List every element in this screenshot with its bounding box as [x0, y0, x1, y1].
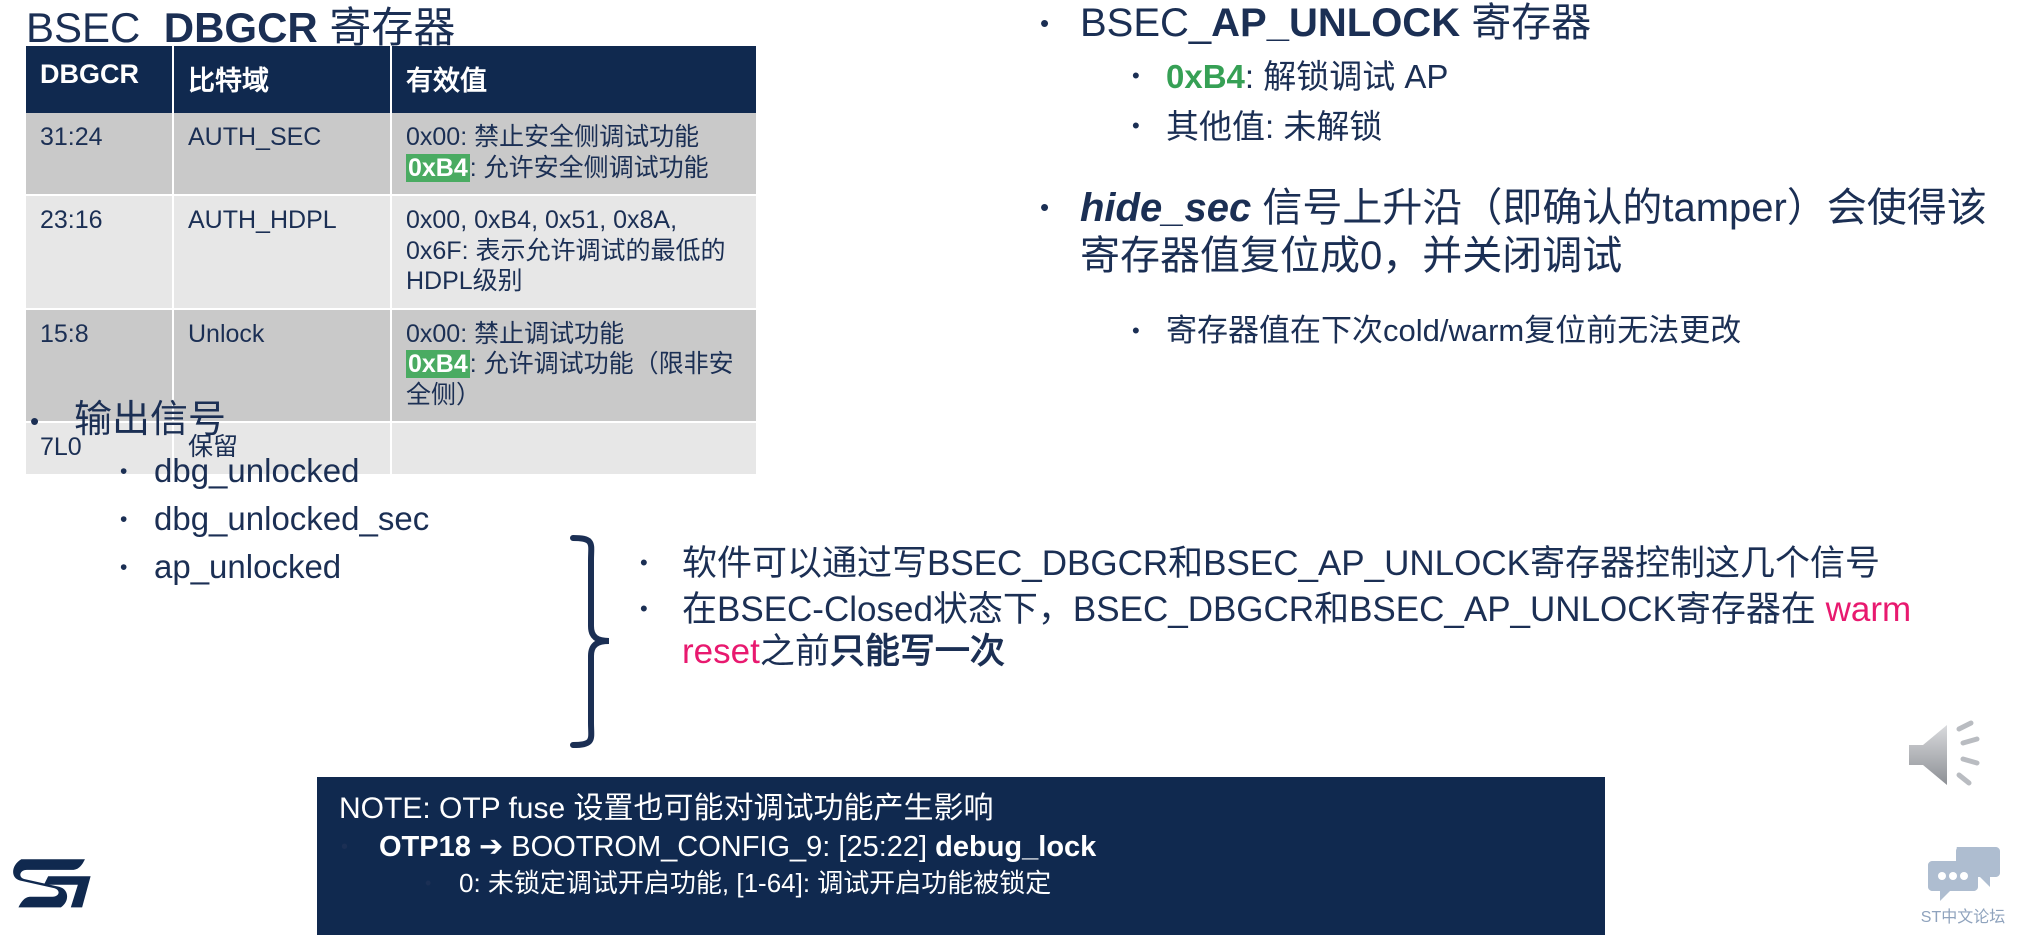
ap-unlock-section: • BSEC_AP_UNLOCK 寄存器 • 0xB4: 解锁调试 AP • 其… [1040, 0, 2000, 156]
cell-field: AUTH_SEC [173, 113, 391, 195]
ap-unlock-suffix: 寄存器 [1460, 1, 1591, 45]
bullet-dot-icon: • [425, 868, 459, 900]
bullet-dot-icon: • [1040, 184, 1080, 220]
page-title-prefix: BSEC_ [26, 4, 164, 51]
note-box: NOTE: OTP fuse 设置也可能对调试功能产生影响 • OTP18 ➔ … [317, 777, 1605, 935]
note-box-line-2: • 0: 未锁定调试开启功能, [1-64]: 调试开启功能被锁定 [425, 868, 1583, 900]
hide-sec-signal-name: hide_sec [1080, 186, 1251, 230]
value-line-1: 0x00: 禁止调试功能 [406, 319, 742, 350]
signal-name: ap_unlocked [154, 548, 550, 587]
ap-unlock-heading: • BSEC_AP_UNLOCK 寄存器 [1040, 0, 2000, 47]
list-item: • ap_unlocked [120, 548, 550, 587]
st-logo [8, 855, 94, 913]
note-box-line-2-text: 0: 未锁定调试开启功能, [1-64]: 调试开启功能被锁定 [459, 868, 1583, 900]
page-title-suffix: 寄存器 [318, 4, 456, 51]
note-box-line-1: • OTP18 ➔ BOOTROM_CONFIG_9: [25:22] debu… [341, 830, 1583, 865]
page-title-bold: DBGCR [164, 4, 318, 51]
table-header-bitfield: 比特域 [173, 46, 391, 113]
bullet-dot-icon: • [1132, 107, 1166, 137]
value-line-1: 0x00: 禁止安全侧调试功能 [406, 122, 742, 153]
other-values-text: 其他值: 未解锁 [1166, 107, 2000, 147]
table-header-row: DBGCR 比特域 有效值 [26, 46, 756, 113]
arrow-icon: ➔ [479, 831, 503, 863]
software-note-2-part1: 在BSEC-Closed状态下，BSEC_DBGCR和BSEC_AP_UNLOC… [682, 590, 1826, 629]
value-line-1: 0x00, 0xB4, 0x51, 0x8A, 0x6F: 表示允许调试的最低的… [406, 205, 742, 297]
output-signals-heading: • 输出信号 [30, 398, 550, 443]
ap-unlock-other-values: • 其他值: 未解锁 [1132, 107, 2000, 147]
bootrom-config-text: BOOTROM_CONFIG_9: [25:22] [503, 831, 935, 863]
bullet-dot-icon: • [1040, 0, 1080, 36]
ap-unlock-value-b4: • 0xB4: 解锁调试 AP [1132, 57, 2000, 97]
write-once-emphasis: 只能写一次 [830, 632, 1005, 671]
cell-values: 0x00: 禁止安全侧调试功能 0xB4: 允许安全侧调试功能 [391, 113, 756, 195]
list-item: • dbg_unlocked_sec [120, 500, 550, 539]
list-item: • dbg_unlocked [120, 452, 550, 491]
value-line-2-text: : 允许安全侧调试功能 [470, 154, 709, 182]
register-reset-note: • 寄存器值在下次cold/warm复位前无法更改 [1040, 312, 2010, 359]
software-note-2-part2: 之前 [760, 632, 830, 671]
table-header-values: 有效值 [391, 46, 756, 113]
register-reset-note-text: 寄存器值在下次cold/warm复位前无法更改 [1166, 312, 2010, 349]
value-0xb4: 0xB4 [1166, 58, 1245, 95]
cell-bits: 31:24 [26, 113, 173, 195]
forum-label: ST中文论坛 [1908, 903, 2018, 927]
ap-unlock-bold: AP_UNLOCK [1211, 1, 1460, 45]
software-note-2: • 在BSEC-Closed状态下，BSEC_DBGCR和BSEC_AP_UNL… [640, 589, 1970, 673]
cell-values: 0x00, 0xB4, 0x51, 0x8A, 0x6F: 表示允许调试的最低的… [391, 195, 756, 309]
table-row: 23:16 AUTH_HDPL 0x00, 0xB4, 0x51, 0x8A, … [26, 195, 756, 309]
output-signals-heading-text: 输出信号 [74, 398, 550, 443]
cell-bits: 23:16 [26, 195, 173, 309]
output-signals-section: • 输出信号 • dbg_unlocked • dbg_unlocked_sec… [30, 398, 550, 596]
chat-bubbles-icon[interactable] [1928, 845, 2000, 901]
value-0xb4-desc: : 解锁调试 AP [1245, 58, 1449, 95]
bullet-dot-icon: • [120, 548, 154, 587]
bullet-dot-icon: • [640, 589, 682, 673]
debug-lock-label: debug_lock [935, 831, 1096, 863]
bullet-dot-icon: • [640, 543, 682, 585]
otp18-label: OTP18 [379, 831, 471, 863]
speaker-icon[interactable] [1905, 717, 2001, 793]
curly-brace-icon [565, 534, 625, 749]
signal-name: dbg_unlocked_sec [154, 500, 550, 539]
bullet-dot-icon: • [30, 398, 74, 434]
signal-name: dbg_unlocked [154, 452, 550, 491]
software-notes-section: • 软件可以通过写BSEC_DBGCR和BSEC_AP_UNLOCK寄存器控制这… [640, 543, 1970, 677]
cell-field: AUTH_HDPL [173, 195, 391, 309]
bullet-dot-icon: • [120, 500, 154, 539]
bullet-dot-icon: • [341, 830, 379, 865]
table-header-dbgcr: DBGCR [26, 46, 173, 113]
bullet-dot-icon: • [120, 452, 154, 491]
software-note-1-text: 软件可以通过写BSEC_DBGCR和BSEC_AP_UNLOCK寄存器控制这几个… [682, 543, 1970, 585]
bullet-dot-icon: • [1132, 57, 1166, 87]
software-note-1: • 软件可以通过写BSEC_DBGCR和BSEC_AP_UNLOCK寄存器控制这… [640, 543, 1970, 585]
highlight-value: 0xB4 [406, 350, 470, 378]
bullet-dot-icon: • [1132, 312, 1166, 342]
value-line-2: 0xB4: 允许安全侧调试功能 [406, 153, 742, 184]
hide-sec-paragraph: • hide_sec 信号上升沿（即确认的tamper）会使得该寄存器值复位成0… [1040, 184, 2010, 286]
ap-unlock-prefix: BSEC_ [1080, 1, 1211, 45]
highlight-value: 0xB4 [406, 154, 470, 182]
note-box-heading: NOTE: OTP fuse 设置也可能对调试功能产生影响 [339, 791, 1583, 828]
table-row: 31:24 AUTH_SEC 0x00: 禁止安全侧调试功能 0xB4: 允许安… [26, 113, 756, 195]
